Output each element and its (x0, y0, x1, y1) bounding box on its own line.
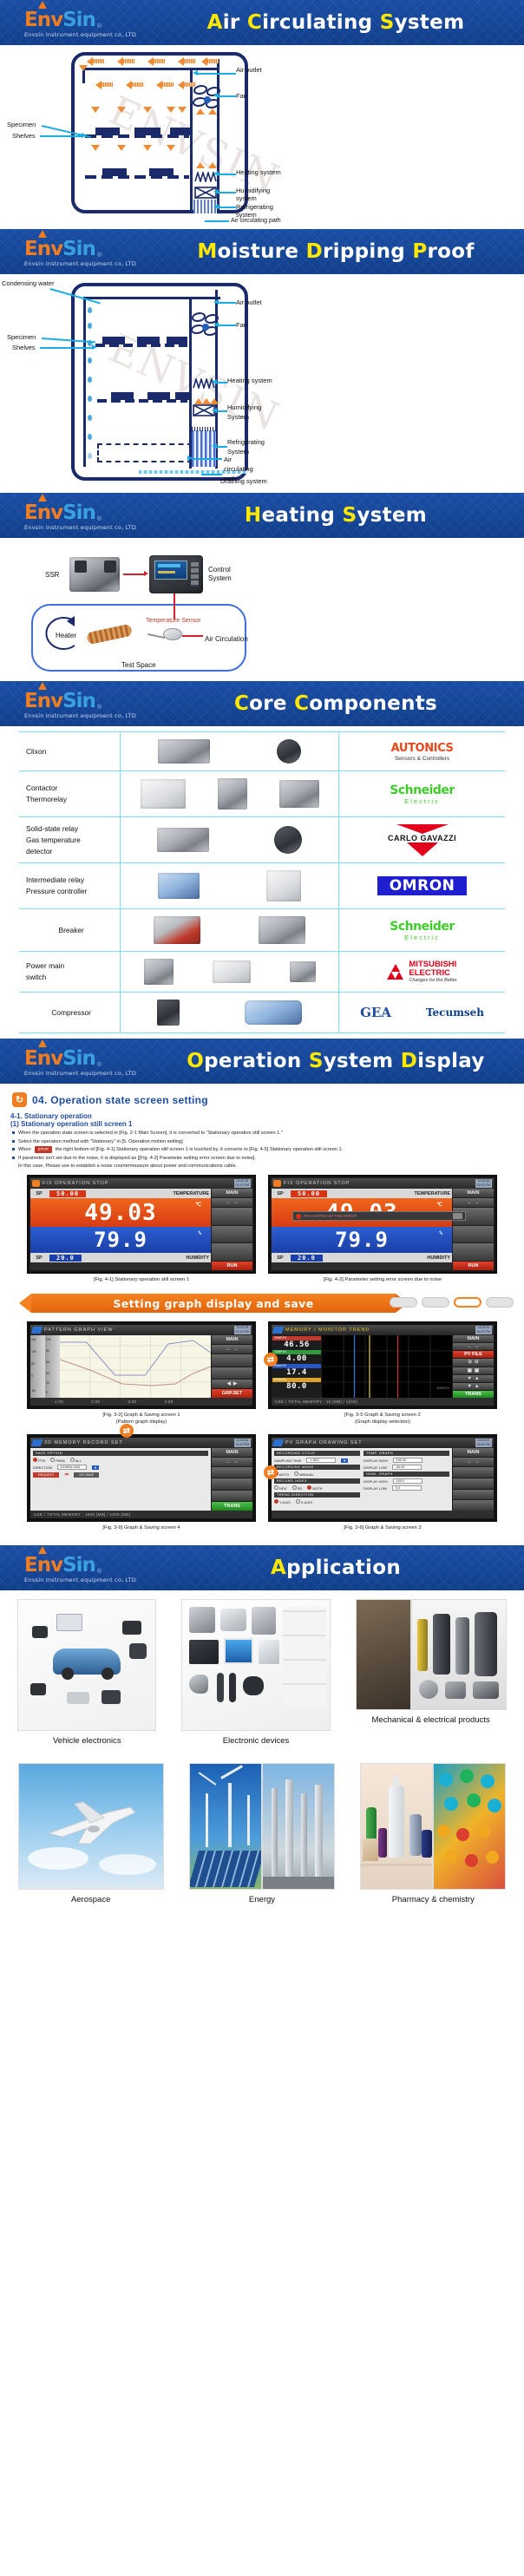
graph-blank-button[interactable] (212, 1354, 252, 1367)
temp-display-high-row[interactable]: DISPLAY HIGH 150.00 (364, 1458, 449, 1463)
airflow-arrow (117, 57, 134, 65)
direction-select[interactable]: DOWNLOAD (57, 1465, 87, 1470)
page-title-operation: Operation System Display (165, 1050, 524, 1072)
graph-blank-button[interactable] (453, 1478, 494, 1489)
humidity-setpoint-value[interactable]: 20.0 (291, 1255, 323, 1262)
component-name-line2: switch (26, 973, 46, 981)
graph-clock-time: 12:00:38 (236, 1439, 248, 1442)
graph-main-button[interactable]: MAIN (453, 1335, 494, 1342)
hmi-blank-button[interactable] (212, 1208, 252, 1225)
graph-trans-button[interactable]: TRANS (212, 1502, 252, 1511)
graph-blank-button[interactable] (453, 1467, 494, 1478)
y-tick: 100 (31, 1350, 36, 1354)
graph-blank-button[interactable] (212, 1467, 252, 1478)
sp-label: SP (32, 1255, 46, 1261)
page-title-heating: Heating System (165, 504, 524, 527)
hmi-prev-button[interactable]: ← (226, 1200, 231, 1205)
hmi-hum-setpoint-row: SP 20.0 HUMIDITY (30, 1253, 211, 1262)
chamber-inner-wall-top (82, 68, 219, 70)
hum-display-high-value[interactable]: 100.0 (393, 1478, 422, 1484)
pill-indicator[interactable] (486, 1297, 514, 1308)
hmi-screen-fig42[interactable]: FIX OPERATION STOP 12:00:38 02:10 PM SP … (268, 1175, 497, 1274)
shelf (361, 1864, 432, 1866)
radio-sd[interactable] (292, 1485, 297, 1490)
application-caption: Aerospace (18, 1895, 164, 1904)
label-control-system: ControlSystem (208, 566, 232, 583)
graph-clock-ampm: 05:50 PM (477, 1443, 490, 1446)
section-banner-core-components: EnvSin ® Envsin Instrument equipment co,… (0, 681, 524, 726)
component-images (121, 732, 339, 771)
graph-x-axis-ticks: 1:00 2:00 3:00 4:00 (30, 1398, 252, 1406)
pv-value: 80.0 (272, 1382, 321, 1391)
airflow-arrow (117, 151, 125, 167)
radio-label: PARA (56, 1458, 65, 1463)
brand-logo-cell: OMRON (339, 863, 505, 909)
form-group-title: TREND DIRECTION (274, 1492, 360, 1498)
component-name: Intermediate relay Pressure controller (19, 863, 121, 909)
stop-button-inline[interactable]: STOP (35, 1146, 52, 1153)
direction-label: DIRECTION (33, 1465, 52, 1470)
hmi-clock-ampm: 02:10 PM (477, 1183, 490, 1187)
component-name: Breaker (19, 909, 121, 952)
graph-memory-status: USE / TOTAL MEMORY : 1500 [MB] / 1000 [M… (30, 1511, 252, 1518)
arrow-icon (92, 344, 97, 350)
hmi-temp-setpoint-row: SP 50.00 TEMPERATURE (272, 1189, 452, 1198)
radio-label: MANUAL (299, 1472, 314, 1477)
application-row-2: Aerospace Ene (0, 1746, 524, 1904)
arrow-icon (212, 379, 217, 384)
airflow-arrow (208, 147, 216, 163)
radio-yaxis[interactable] (274, 1499, 278, 1504)
logo: EnvSin ® Envsin Instrument equipment co,… (0, 7, 165, 38)
airflow-arrow (147, 57, 165, 65)
schneider-tagline: Electric (343, 797, 501, 805)
shelf (85, 175, 189, 179)
product-photo (266, 870, 301, 901)
hum-display-low-row[interactable]: DISPLAY LOW 0.0 (364, 1485, 449, 1491)
component-name: Solid-state relay Gas temperature detect… (19, 817, 121, 863)
logo-tagline: Envsin Instrument equipment co, LTD (24, 1070, 165, 1077)
hmi-main-button[interactable]: MAIN (212, 1189, 252, 1197)
condensation-droplet-icon (88, 377, 92, 383)
product-photo (274, 826, 302, 854)
hum-display-high-row[interactable]: DISPLAY HIGH 100.0 (364, 1478, 449, 1484)
pill-indicator-active[interactable] (454, 1297, 481, 1308)
form-group-title: RECORDING MODE (274, 1465, 360, 1470)
plant-column (315, 1785, 323, 1880)
trend-direction-row[interactable]: Y-AXIS X-AXIS (274, 1499, 360, 1504)
pill (437, 1825, 450, 1838)
logo: EnvSin ® Envsin Instrument equipment co,… (0, 1045, 165, 1077)
car-wheel (102, 1668, 114, 1680)
plant-ground (263, 1877, 334, 1889)
airflow-arrow (79, 71, 87, 87)
ribbon-pills (390, 1297, 514, 1308)
turbine-blade (220, 1765, 242, 1779)
component-name-line2: Pressure controller (26, 887, 87, 895)
component-name: Clixon (19, 732, 121, 771)
graph-screen-fig32[interactable]: PATTERN GRAPH VIEW 12:00:38 02:10 PM 150… (27, 1321, 256, 1409)
radio-para[interactable] (50, 1458, 55, 1462)
hum-display-low-value[interactable]: 0.0 (392, 1485, 422, 1491)
y-tick: 0 (46, 1391, 48, 1394)
graph-clock-time: 13:00:00 (477, 1326, 489, 1329)
sampling-time-select[interactable]: 1 SEC (306, 1458, 336, 1463)
application-item-vehicle-electronics: Vehicle electronics (17, 1599, 156, 1746)
chamber-inner-wall-left (83, 297, 86, 467)
component-thumb (56, 1614, 82, 1631)
graph-pvfile-button[interactable]: PV FILE (453, 1351, 494, 1358)
pv-item: TEMP.PV 46.56 (272, 1336, 321, 1349)
form-group-title: RECORDING CYCLE (274, 1451, 360, 1456)
hmi-main-button[interactable]: MAIN (453, 1189, 494, 1197)
hmi-status-bar (30, 1262, 211, 1270)
schneider-logo: Schneider (343, 783, 501, 797)
airflow-arrow (196, 94, 204, 109)
temp-channel-label: TEMPERATURE (415, 1191, 450, 1196)
product-photo (157, 828, 209, 852)
graph-blank-button[interactable] (453, 1500, 494, 1511)
hmi-logo-icon (31, 1439, 43, 1446)
leader-line (217, 410, 227, 412)
device-thumb (217, 1673, 224, 1702)
humidity-channel-label: HUMIDITY (427, 1255, 450, 1261)
label-ssr: SSR (45, 571, 59, 579)
operation-note: In this case, Please use to establish a … (18, 1163, 515, 1170)
hmi-blank-button[interactable] (453, 1243, 494, 1261)
graph-clock-time: 12:00:38 (236, 1326, 248, 1329)
bottle (389, 1785, 404, 1858)
record-index-row[interactable]: HDX SD BOTH (274, 1485, 360, 1491)
graph-main-button[interactable]: MAIN (212, 1448, 252, 1457)
pill (467, 1793, 481, 1807)
logo-text-sin: Sin (62, 1554, 95, 1576)
graph-blank-button[interactable] (212, 1478, 252, 1489)
temp-setpoint-value[interactable]: 50.00 (49, 1190, 86, 1197)
graph-updown-buttons[interactable]: ▼ ▲ (453, 1375, 494, 1382)
pv-value-panel: TEMP.PV 46.56 TEMP.SV 4.00 HUMI.PV 17.4 (272, 1335, 322, 1398)
pill-indicator[interactable] (390, 1297, 417, 1308)
y-tick: 150 (31, 1338, 36, 1341)
solar-panel (189, 1851, 262, 1887)
temp-setpoint-value[interactable]: 50.00 (291, 1190, 327, 1197)
radio-xaxis[interactable] (296, 1499, 300, 1504)
label-heater: Heater (56, 632, 76, 639)
radio-ptn[interactable] (33, 1458, 37, 1462)
temp-display-low-row[interactable]: DISPLAY LOW -50.00 (364, 1465, 449, 1470)
graph-main-button[interactable]: MAIN (212, 1335, 252, 1344)
component-name-line1: Intermediate relay (26, 875, 84, 884)
connector-line (174, 593, 175, 619)
controller-screen-line (158, 571, 175, 574)
component-name-line1: Power main (26, 961, 64, 970)
hmi-blank-button[interactable] (212, 1243, 252, 1261)
arrow-icon (213, 171, 219, 176)
graph-scroll-buttons[interactable]: ◀ ▶ (212, 1380, 252, 1388)
graph-clock: 13:00:00 05:50 PM (475, 1439, 492, 1447)
logo-text-env: Env (24, 238, 62, 260)
hmi-nav-buttons[interactable]: ← → (212, 1198, 252, 1207)
graph-marker-buttons[interactable]: ▣ ▣ (453, 1367, 494, 1374)
specimen-block (167, 337, 187, 344)
logo-text-sin: Sin (62, 690, 95, 712)
page-title-moisture: Moisture Dripping Proof (165, 240, 524, 263)
table-row: Contactor Thermorelay Schneider Electric (19, 771, 505, 817)
graph-screen-fig36[interactable]: PV GRAPH DRAWING SET 13:00:00 05:50 PM R… (268, 1434, 497, 1522)
y-tick: 20 (46, 1381, 49, 1385)
hmi-next-button[interactable]: → (475, 1200, 480, 1205)
pharmacy-chemistry-image (360, 1763, 506, 1890)
pv-value: 17.4 (272, 1368, 321, 1377)
ssr-terminal (75, 560, 87, 573)
label-specimen: Specimen (7, 333, 36, 341)
hmi-prev-button[interactable]: ← (467, 1200, 472, 1205)
figure-caption-41: [Fig. 4-1] Stationary operation still sc… (27, 1276, 256, 1283)
leader-line (193, 458, 222, 460)
airflow-arrow (178, 113, 186, 128)
connector-arrow-icon (123, 574, 146, 575)
temperature-value: 49.03 (84, 1200, 156, 1226)
graph-clock: 12:00:38 02:10 PM (234, 1326, 251, 1334)
specimen-block (137, 337, 160, 344)
graph-nav-buttons[interactable]: ← → (212, 1458, 252, 1466)
specimen-block (147, 392, 170, 400)
aerospace-image (18, 1763, 164, 1890)
logo-text-env: Env (24, 690, 62, 712)
mitsubishi-mark-icon (387, 964, 404, 980)
radio-label: AUTO (279, 1472, 289, 1477)
arrow-icon (193, 70, 198, 75)
form-group-title: HUMI. GRAPH (364, 1472, 449, 1477)
label-refrigerating-system: Refrigerating system (236, 203, 265, 219)
chevron-down-icon[interactable]: ▼ (92, 1465, 99, 1470)
refresh-icon: ↻ (12, 1092, 27, 1107)
device-thumb (224, 1638, 253, 1664)
graph-nav-buttons[interactable]: ← → (453, 1458, 494, 1466)
hmi-screen-fig41[interactable]: FIX OPERATION STOP 12:00:38 02:10 PM SP … (27, 1175, 256, 1274)
operation-bullet: When the operation state screen is selec… (12, 1130, 515, 1137)
registered-icon: ® (97, 705, 102, 711)
section-banner-air-circulating: EnvSin ® Envsin Instrument equipment co,… (0, 0, 524, 45)
part-thumb (475, 1612, 497, 1676)
graph-trans-button[interactable]: TRANS (453, 1391, 494, 1398)
form-actions-row[interactable]: REQUEST ➡ GO SAVE (33, 1472, 208, 1478)
hmi-screens-row: FIX OPERATION STOP 12:00:38 02:10 PM SP … (9, 1175, 515, 1283)
carlo-gavazzi-mark-bottom (407, 842, 438, 856)
trend-scale-label: 3MIN/DIV (436, 1386, 449, 1390)
label-draining-system: Draining system (220, 477, 267, 485)
hmi-run-button[interactable]: RUN (453, 1262, 494, 1270)
sp-label: SP (273, 1191, 287, 1196)
radio-manual[interactable] (294, 1472, 298, 1476)
swap-icon: ⇄ (264, 1353, 278, 1367)
turbine-tower (228, 1783, 232, 1847)
application-row-1: Vehicle electronics Electronic devices (0, 1590, 524, 1746)
error-dialog[interactable]: PARAMETER SETTING ERROR (292, 1211, 466, 1221)
sampling-time-row[interactable]: SAMPLING TIME 1 SEC ▼ (274, 1458, 360, 1463)
plant-column (301, 1793, 307, 1880)
condensation-droplet-icon (88, 434, 92, 440)
pill-indicator[interactable] (422, 1297, 449, 1308)
application-item-energy: Energy (189, 1763, 335, 1904)
graph-zoom-buttons[interactable]: ⊙ ⊙ (453, 1359, 494, 1366)
hmi-blank-button[interactable] (212, 1226, 252, 1243)
plant-photo (262, 1763, 335, 1890)
leader-line (40, 135, 83, 137)
label-fan: Fan (236, 321, 247, 329)
graph-blank-button[interactable] (212, 1491, 252, 1501)
component-name: Compressor (19, 993, 121, 1033)
hmi-temp-setpoint-row: SP 50.00 TEMPERATURE (30, 1189, 211, 1198)
graph-nav-buttons[interactable]: ← → (453, 1343, 494, 1350)
drain-pan (97, 443, 193, 462)
hmi-logo-icon (31, 1327, 43, 1334)
component-name-line2: Thermorelay (26, 795, 67, 803)
hmi-clock: 12:00:38 02:10 PM (234, 1179, 251, 1188)
x-tick: 1:00 (55, 1399, 63, 1404)
arrow-icon (212, 408, 217, 413)
operation-bullet: Select the operation method with “Statio… (12, 1138, 515, 1145)
schneider-logo: Schneider (343, 920, 501, 934)
radio-all[interactable] (70, 1458, 75, 1462)
device-thumb (243, 1676, 264, 1695)
hmi-nav-buttons[interactable]: ← → (453, 1198, 494, 1207)
hmi-clock-ampm: 02:10 PM (236, 1183, 249, 1187)
pv-item: HUMI.PV 17.4 (272, 1364, 321, 1377)
operation-subheading-2: (1) Stationary operation still screen 1 (10, 1120, 515, 1128)
operation-section: ↻ 04. Operation state screen setting 4-1… (0, 1084, 524, 1540)
graph-main-button[interactable]: MAIN (453, 1448, 494, 1457)
hmi-logo-icon (272, 1439, 285, 1446)
hmi-clock-time: 12:00:38 (477, 1179, 489, 1183)
recording-mode-row[interactable]: AUTO MANUAL (274, 1472, 360, 1477)
hmi-next-button[interactable]: → (233, 1200, 239, 1205)
application-item-mechanical-electrical: Mechanical & electrical products (356, 1599, 507, 1746)
temperature-unit: ℃ (436, 1202, 443, 1208)
hmi-logo-icon (272, 1327, 285, 1334)
logo: EnvSin ® Envsin Instrument equipment co,… (0, 1552, 165, 1583)
form-radio-row[interactable]: PTN PARA ALL (33, 1458, 208, 1463)
bullet-text: If parameter isn’t set due to the noise,… (18, 1155, 256, 1162)
logo-triangle-icon (38, 230, 47, 238)
logo-tagline: Envsin Instrument equipment co, LTD (24, 524, 165, 531)
arrow-right-icon: ➡ (64, 1472, 69, 1478)
airflow-arrow (196, 147, 204, 163)
graph-nav-buttons[interactable]: ← → (212, 1345, 252, 1354)
graph-updown-buttons-2[interactable]: ▼ ▲ (453, 1383, 494, 1390)
logo-text-env: Env (24, 1554, 62, 1576)
chevron-down-icon[interactable]: ▼ (341, 1458, 348, 1463)
label-shelves: Shelves (12, 132, 36, 140)
humidity-readout: 79.9 % (30, 1227, 211, 1253)
logo-text-env: Env (24, 1047, 62, 1070)
y-tick: 100 (46, 1338, 51, 1341)
arrow-icon (213, 204, 219, 209)
graph-screen-fig39[interactable]: 3D MEMORY RECORD SET 12:00:38 02:10 PM S… (27, 1434, 256, 1522)
controller-screen-line (158, 564, 180, 567)
form-group-title: RECORD INDEX (274, 1478, 360, 1484)
gosave-button[interactable]: GO SAVE (74, 1472, 99, 1478)
temp-display-low-value[interactable]: -50.00 (392, 1465, 422, 1470)
request-button[interactable]: REQUEST (33, 1472, 59, 1478)
specimen-block (170, 128, 191, 135)
logo-triangle-icon (38, 1, 47, 9)
hmi-blank-button[interactable] (453, 1226, 494, 1243)
catalog-page: EnvSin ® Envsin Instrument equipment co,… (0, 0, 524, 1904)
component-thumb (30, 1683, 46, 1695)
label-test-space: Test Space (121, 661, 156, 669)
component-images (121, 909, 339, 952)
condensation-droplet-icon (88, 323, 92, 329)
component-images (121, 817, 339, 863)
close-icon[interactable] (453, 1213, 462, 1219)
logo-text-sin: Sin (62, 238, 95, 260)
graph-clock: 12:00:38 02:10 PM (234, 1439, 251, 1447)
radio-both[interactable] (307, 1485, 311, 1490)
application-caption: Vehicle electronics (17, 1736, 156, 1746)
airflow-arrow (202, 383, 210, 399)
display-high-label: DISPLAY HIGH (364, 1458, 388, 1463)
leader-line (219, 324, 236, 326)
graph-blank-button[interactable] (212, 1367, 252, 1380)
specimen-block (111, 392, 134, 400)
pv-graph-drawing-form: RECORDING CYCLE SAMPLING TIME 1 SEC ▼ RE… (272, 1448, 452, 1511)
error-icon (296, 1214, 301, 1219)
arrow-icon (82, 133, 87, 138)
icon-grid (283, 1607, 326, 1708)
pattern-graph-plot (60, 1335, 211, 1398)
graph-clock-ampm: 02:10 PM (236, 1330, 249, 1334)
airflow-arrow (143, 113, 151, 128)
cloud (99, 1854, 156, 1875)
product-photo (154, 916, 200, 944)
radio-hdx[interactable] (274, 1485, 278, 1490)
graph-grpset-button[interactable]: GRP.SET (212, 1389, 252, 1398)
form-direction-row[interactable]: DIRECTION DOWNLOAD ▼ (33, 1465, 208, 1470)
graph-clock-ampm: 02:10 PM (236, 1443, 249, 1446)
label-condensing-water: Condensing water (2, 279, 54, 287)
airflow-arrow (194, 383, 202, 399)
diagram-heating-system: SSR ControlSystem Heater Temperature Sen… (0, 538, 524, 681)
specimen-block (95, 128, 120, 135)
bottle (422, 1830, 432, 1858)
airflow-arrow (95, 81, 113, 88)
bottle (378, 1828, 387, 1858)
product-photo (144, 959, 174, 985)
airflow-arrow (201, 57, 219, 65)
graph-screen-fig35[interactable]: MEMORY / MONITOR TREND 13:00:00 04:00 PM… (268, 1321, 497, 1409)
component-thumb (102, 1690, 121, 1704)
device-thumb (189, 1675, 208, 1694)
temp-display-high-value[interactable]: 150.00 (393, 1458, 422, 1463)
application-caption: Energy (189, 1895, 335, 1904)
plant-column (272, 1788, 278, 1880)
humidity-unit: % (198, 1230, 202, 1236)
label-air-outlet: Air outlet (236, 66, 262, 74)
core-components-table: Clixon AUTONICS Sensors & Controllers Co… (19, 731, 505, 1033)
airflow-arrow (143, 151, 151, 167)
hmi-run-button[interactable]: RUN (212, 1262, 252, 1270)
humidity-setpoint-value[interactable]: 20.0 (49, 1255, 82, 1262)
humidity-readout: 79.9 % (272, 1227, 452, 1253)
label-shelves: Shelves (12, 344, 36, 351)
logo-triangle-icon (38, 1039, 47, 1047)
graph-blank-button[interactable] (453, 1490, 494, 1500)
radio-label: ALL (75, 1458, 82, 1463)
display-low-label: DISPLAY LOW (364, 1465, 387, 1470)
product-photo (158, 873, 200, 899)
component-name-line2: Gas temperature (26, 836, 81, 844)
